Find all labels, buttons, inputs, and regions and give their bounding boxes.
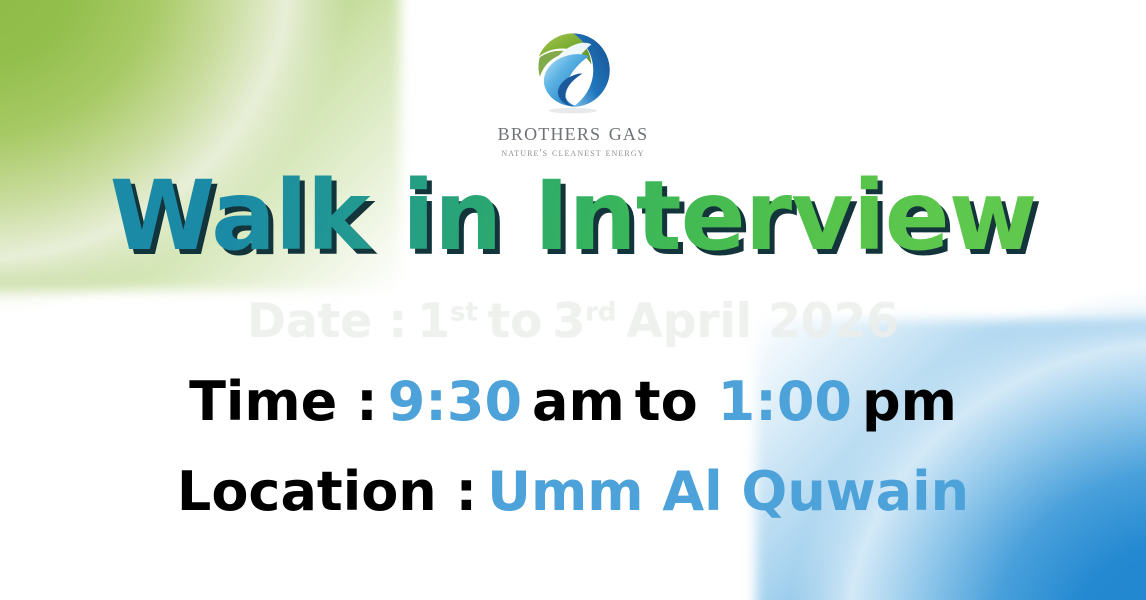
time-end-meridiem: pm bbox=[862, 370, 957, 433]
time-connector: to bbox=[635, 370, 698, 433]
date-connector: to bbox=[488, 294, 543, 349]
time-line: Time :9:30amto1:00pm bbox=[0, 374, 1146, 431]
location-label: Location : bbox=[177, 460, 477, 523]
date-to-suffix: rd bbox=[585, 297, 616, 327]
poster-content: Brothers Gas Nature's Cleanest Energy Wa… bbox=[0, 0, 1146, 600]
date-from-suffix: st bbox=[450, 297, 478, 327]
location-line: Location :Umm Al Quwain bbox=[0, 464, 1146, 521]
poster-headline: Walk in Interview Walk in Interview bbox=[110, 168, 1037, 264]
brand-logo-block: Brothers Gas Nature's Cleanest Energy bbox=[0, 26, 1146, 159]
walk-in-interview-poster: Brothers Gas Nature's Cleanest Energy Wa… bbox=[0, 0, 1146, 600]
time-end-value: 1:00 bbox=[718, 370, 852, 433]
location-value: Umm Al Quwain bbox=[487, 460, 969, 523]
brothers-gas-globe-icon bbox=[527, 26, 619, 118]
date-from-day: 1 bbox=[417, 294, 450, 349]
time-start-meridiem: am bbox=[532, 370, 625, 433]
headline-text: Walk in Interview bbox=[110, 160, 1037, 272]
time-label: Time : bbox=[189, 370, 378, 433]
headline-container: Walk in Interview Walk in Interview bbox=[0, 168, 1146, 264]
brand-tagline: Nature's Cleanest Energy bbox=[501, 148, 644, 159]
date-label: Date : bbox=[247, 294, 407, 349]
brand-wordmark: Brothers Gas bbox=[498, 120, 649, 145]
time-start-value: 9:30 bbox=[388, 370, 522, 433]
date-line: Date :1stto3rdApril 2026 bbox=[0, 296, 1146, 348]
date-to-day: 3 bbox=[552, 294, 585, 349]
date-month-year: April 2026 bbox=[626, 294, 899, 349]
